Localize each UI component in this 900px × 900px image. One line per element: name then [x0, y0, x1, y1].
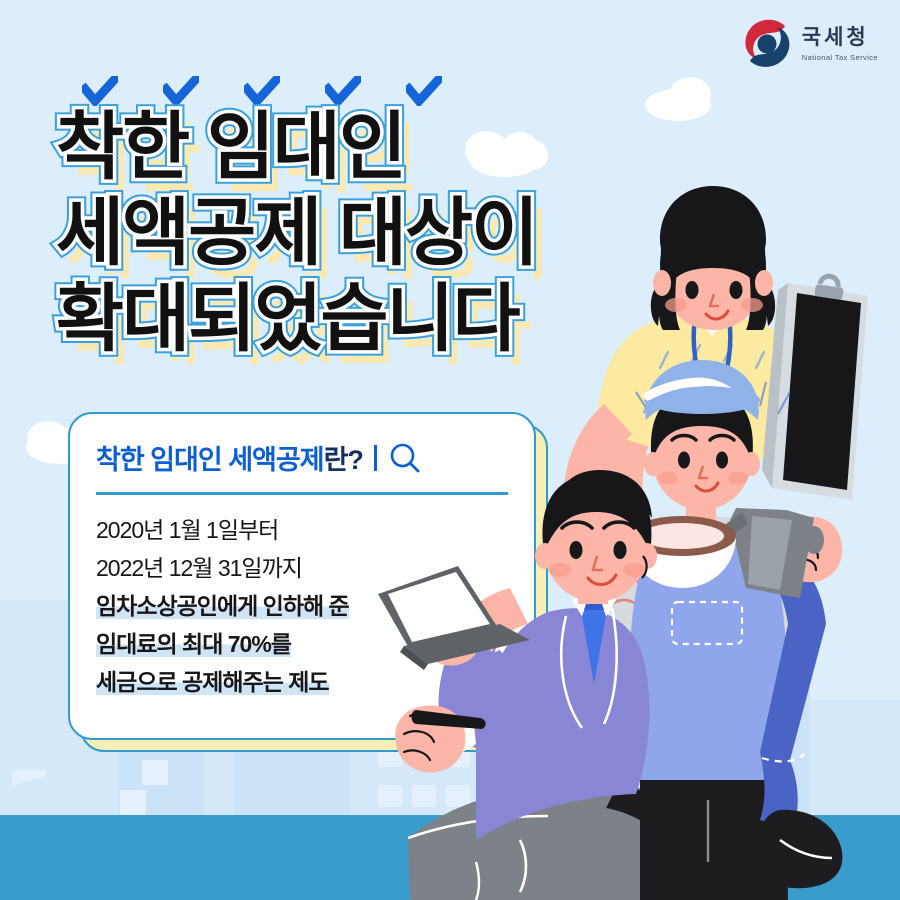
- info-card-divider: [96, 492, 508, 495]
- info-body-text: 임대료의 최대 70%를: [96, 631, 291, 657]
- info-body-line: 2020년 1월 1일부터: [96, 511, 508, 549]
- taegeuk-swirl-icon: [741, 18, 793, 70]
- checkmark-row: [82, 76, 442, 106]
- info-card-title-suffix: 란?: [324, 445, 363, 475]
- poster-canvas: 국세청 National Tax Service 착한 임대인 착한 임대인 착…: [0, 0, 900, 900]
- info-card: 착한 임대인 세액공제란? 2020년 1월 1일부터 2022년 12월 31…: [68, 412, 536, 740]
- headline-line-3: 확대되었습니다 확대되었습니다 확대되었습니다: [56, 276, 676, 362]
- search-icon[interactable]: [388, 441, 422, 475]
- logo-agency-name-en: National Tax Service: [802, 53, 878, 62]
- info-body-line: 2022년 12월 31일까지: [96, 549, 508, 587]
- check-icon: [406, 76, 442, 106]
- nts-logo: 국세청 National Tax Service: [741, 18, 878, 70]
- check-icon: [163, 76, 199, 106]
- info-card-title: 착한 임대인 세액공제란?: [96, 438, 363, 477]
- info-body-line: 세금으로 공제해주는 제도: [96, 663, 508, 701]
- headline-line-2: 세액공제 대상이 세액공제 대상이 세액공제 대상이: [56, 190, 676, 276]
- info-card-header: 착한 임대인 세액공제란?: [96, 438, 508, 477]
- info-body-text: 임차소상공인에게 인하해 준: [96, 593, 349, 619]
- check-icon: [244, 76, 280, 106]
- info-body-text: 세금으로 공제해주는 제도: [96, 669, 329, 695]
- info-card-title-main: 착한 임대인 세액공제: [96, 445, 324, 475]
- info-body-text: 2022년 12월 31일까지: [96, 555, 302, 581]
- check-icon: [325, 76, 361, 106]
- check-icon: [82, 76, 118, 106]
- page-title: 착한 임대인 착한 임대인 착한 임대인 세액공제 대상이 세액공제 대상이 세…: [56, 104, 676, 362]
- title-separator-bar: [374, 445, 377, 471]
- info-body-text: 2020년 1월 1일부터: [96, 517, 278, 543]
- info-card-body: 2020년 1월 1일부터 2022년 12월 31일까지 임차소상공인에게 인…: [96, 511, 508, 701]
- logo-agency-name-ko: 국세청: [802, 26, 869, 49]
- headline-line-1: 착한 임대인 착한 임대인 착한 임대인: [56, 104, 676, 190]
- info-body-line: 임대료의 최대 70%를: [96, 625, 508, 663]
- info-body-line: 임차소상공인에게 인하해 준: [96, 587, 508, 625]
